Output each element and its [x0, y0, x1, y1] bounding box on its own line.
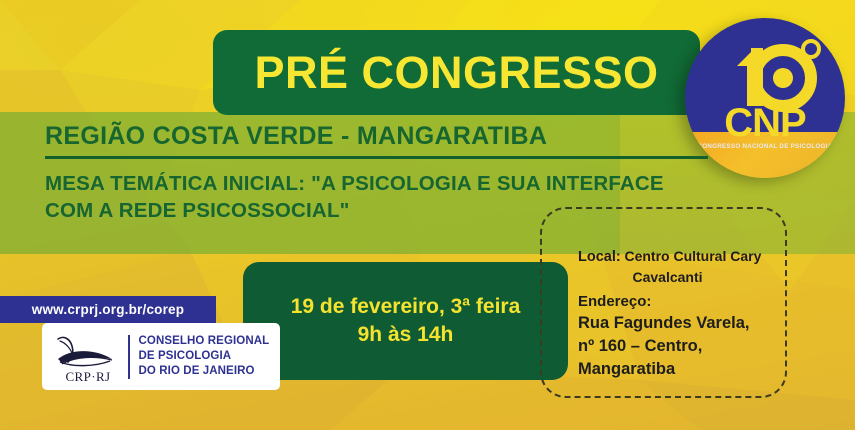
event-poster: PRÉ CONGRESSO CNP CONGRESSO NACIONAL DE … — [0, 0, 855, 430]
venue-address-line-2: nº 160 – Centro, — [578, 335, 793, 358]
venue-local-label: Local: — [578, 249, 621, 265]
page-title: PRÉ CONGRESSO — [254, 50, 658, 95]
svg-text:CNP: CNP — [724, 101, 806, 145]
theme-line-1: MESA TEMÁTICA INICIAL: "A PSICOLOGIA E S… — [45, 170, 735, 197]
crp-name-line-3: DO RIO DE JANEIRO — [139, 364, 270, 379]
website-url-text: www.crprj.org.br/corep — [32, 302, 184, 317]
venue-info: Local: Centro Cultural Cary Cavalcanti E… — [578, 247, 793, 381]
crp-rj-name: CONSELHO REGIONAL DE PSICOLOGIA DO RIO D… — [139, 334, 270, 379]
venue-address-label: Endereço: — [578, 292, 793, 312]
date-time-box: 19 de fevereiro, 3ª feira 9h às 14h — [243, 262, 568, 380]
crp-name-line-2: DE PSICOLOGIA — [139, 349, 270, 364]
divider-rule — [45, 156, 708, 159]
venue-address-line-3: Mangaratiba — [578, 358, 793, 381]
venue-local-value-line2: Cavalcanti — [578, 267, 793, 288]
cnp-logo: CNP CONGRESSO NACIONAL DE PSICOLOGIA — [685, 18, 845, 178]
crp-name-line-1: CONSELHO REGIONAL — [139, 334, 270, 349]
crp-rj-emblem: CRP·RJ — [50, 329, 126, 385]
website-url-bar[interactable]: www.crprj.org.br/corep — [0, 296, 216, 323]
cnp-logo-artwork: CNP CONGRESSO NACIONAL DE PSICOLOGIA — [685, 18, 845, 178]
region-subtitle: REGIÃO COSTA VERDE - MANGARATIBA — [45, 122, 547, 151]
venue-address-line-1: Rua Fagundes Varela, — [578, 312, 793, 335]
poster-title-bar: PRÉ CONGRESSO — [213, 30, 700, 115]
crp-rj-logo-panel: CRP·RJ CONSELHO REGIONAL DE PSICOLOGIA D… — [42, 323, 280, 390]
event-date: 19 de fevereiro, 3ª feira — [291, 295, 521, 319]
venue-local-row: Local: Centro Cultural Cary — [578, 247, 793, 267]
event-time: 9h às 14h — [358, 323, 454, 347]
venue-local-value: Centro Cultural Cary — [624, 248, 761, 264]
crp-panel-divider — [128, 335, 130, 379]
crp-rj-mark-text: CRP·RJ — [65, 369, 110, 384]
svg-text:CONGRESSO NACIONAL DE PSICOLOG: CONGRESSO NACIONAL DE PSICOLOGIA — [698, 143, 833, 150]
